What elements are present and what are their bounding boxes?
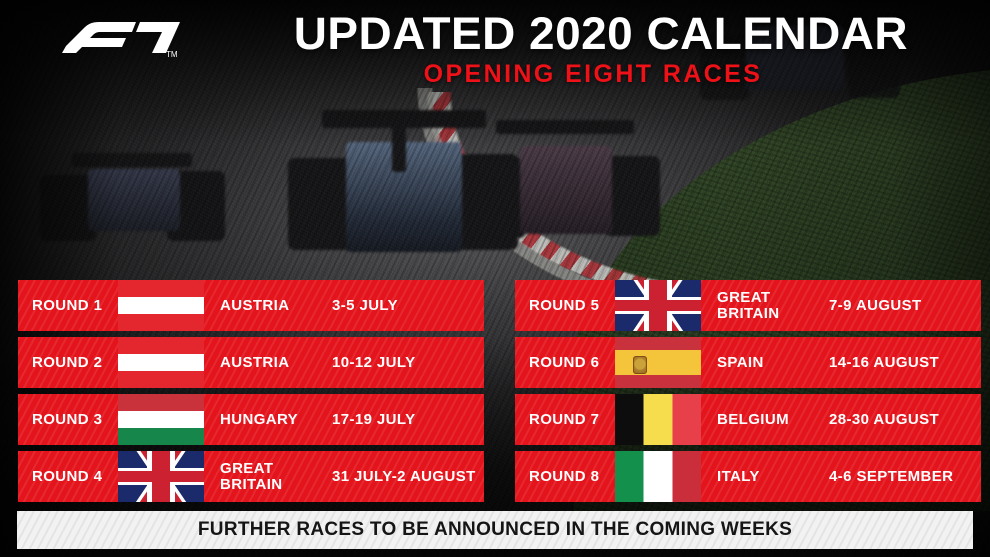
round-label-cell: ROUND 4: [18, 451, 118, 502]
race-row[interactable]: ROUND 5GREATBRITAIN7-9 AUGUST: [515, 280, 981, 331]
race-grid: ROUND 1AUSTRIA3-5 JULYROUND 2AUSTRIA10-1…: [0, 280, 990, 508]
country-name: GREATBRITAIN: [220, 461, 332, 493]
round-label: ROUND 7: [529, 411, 599, 428]
race-info-cell: AUSTRIA10-12 JULY: [204, 337, 484, 388]
country-name: GREATBRITAIN: [717, 290, 829, 322]
flag-hungary: [118, 394, 204, 445]
round-label-cell: ROUND 1: [18, 280, 118, 331]
flag-spain: [615, 337, 701, 388]
flag-great-britain: [615, 280, 701, 331]
round-label-cell: ROUND 6: [515, 337, 615, 388]
round-label-cell: ROUND 2: [18, 337, 118, 388]
race-info-cell: HUNGARY17-19 JULY: [204, 394, 484, 445]
flag-cell: [118, 451, 204, 502]
flag-belgium: [615, 394, 701, 445]
flag-cell: [615, 337, 701, 388]
f1-calendar-poster: TM UPDATED 2020 CALENDAR OPENING EIGHT R…: [0, 0, 990, 557]
flag-cell: [118, 337, 204, 388]
race-row[interactable]: ROUND 7BELGIUM28-30 AUGUST: [515, 394, 981, 445]
race-dates: 10-12 JULY: [332, 354, 416, 371]
round-label: ROUND 6: [529, 354, 599, 371]
race-dates: 4-6 SEPTEMBER: [829, 468, 953, 485]
race-row[interactable]: ROUND 8ITALY4-6 SEPTEMBER: [515, 451, 981, 502]
race-row[interactable]: ROUND 1AUSTRIA3-5 JULY: [18, 280, 484, 331]
race-info-cell: ITALY4-6 SEPTEMBER: [701, 451, 981, 502]
race-dates: 7-9 AUGUST: [829, 297, 922, 314]
svg-text:TM: TM: [166, 50, 178, 59]
page-subtitle: OPENING EIGHT RACES: [196, 60, 990, 88]
flag-cell: [118, 394, 204, 445]
round-label: ROUND 3: [32, 411, 102, 428]
round-label-cell: ROUND 3: [18, 394, 118, 445]
country-name: AUSTRIA: [220, 355, 332, 371]
race-column-left: ROUND 1AUSTRIA3-5 JULYROUND 2AUSTRIA10-1…: [18, 280, 484, 502]
race-info-cell: GREATBRITAIN7-9 AUGUST: [701, 280, 981, 331]
round-label: ROUND 8: [529, 468, 599, 485]
race-dates: 3-5 JULY: [332, 297, 398, 314]
flag-cell: [615, 394, 701, 445]
race-column-right: ROUND 5GREATBRITAIN7-9 AUGUSTROUND 6SPAI…: [515, 280, 981, 502]
flag-austria: [118, 337, 204, 388]
race-row[interactable]: ROUND 4GREATBRITAIN31 JULY-2 AUGUST: [18, 451, 484, 502]
flag-great-britain: [118, 451, 204, 502]
flag-cell: [615, 451, 701, 502]
race-info-cell: GREATBRITAIN31 JULY-2 AUGUST: [204, 451, 484, 502]
flag-cell: [615, 280, 701, 331]
race-row[interactable]: ROUND 6SPAIN14-16 AUGUST: [515, 337, 981, 388]
country-name: SPAIN: [717, 355, 829, 371]
footer-banner: FURTHER RACES TO BE ANNOUNCED IN THE COM…: [17, 511, 973, 549]
race-row[interactable]: ROUND 2AUSTRIA10-12 JULY: [18, 337, 484, 388]
flag-cell: [118, 280, 204, 331]
round-label-cell: ROUND 5: [515, 280, 615, 331]
race-dates: 28-30 AUGUST: [829, 411, 939, 428]
round-label-cell: ROUND 8: [515, 451, 615, 502]
race-info-cell: BELGIUM28-30 AUGUST: [701, 394, 981, 445]
country-name: BELGIUM: [717, 412, 829, 428]
footer-note: FURTHER RACES TO BE ANNOUNCED IN THE COM…: [198, 519, 792, 541]
header: TM UPDATED 2020 CALENDAR OPENING EIGHT R…: [0, 0, 990, 96]
country-name: HUNGARY: [220, 412, 332, 428]
round-label-cell: ROUND 7: [515, 394, 615, 445]
round-label: ROUND 5: [529, 297, 599, 314]
round-label: ROUND 1: [32, 297, 102, 314]
race-dates: 17-19 JULY: [332, 411, 416, 428]
country-name: AUSTRIA: [220, 298, 332, 314]
race-dates: 31 JULY-2 AUGUST: [332, 468, 476, 485]
race-row[interactable]: ROUND 3HUNGARY17-19 JULY: [18, 394, 484, 445]
race-dates: 14-16 AUGUST: [829, 354, 939, 371]
race-info-cell: SPAIN14-16 AUGUST: [701, 337, 981, 388]
round-label: ROUND 4: [32, 468, 102, 485]
country-name: ITALY: [717, 469, 829, 485]
flag-italy: [615, 451, 701, 502]
flag-austria: [118, 280, 204, 331]
page-title: UPDATED 2020 CALENDAR: [196, 8, 990, 60]
race-info-cell: AUSTRIA3-5 JULY: [204, 280, 484, 331]
round-label: ROUND 2: [32, 354, 102, 371]
coat-of-arms-icon: [633, 356, 647, 374]
f1-logo-icon: TM: [62, 16, 182, 60]
